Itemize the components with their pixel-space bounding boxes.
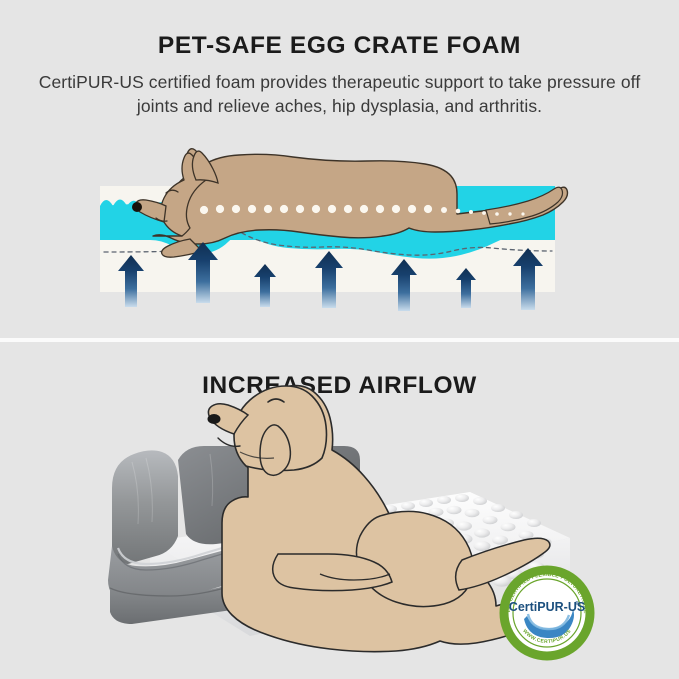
dog-nose	[208, 414, 221, 424]
badge-trademark-symbol: ®	[575, 600, 579, 607]
illustration-dog-on-foam-cross-section	[0, 0, 679, 338]
illustration-dog-on-bolster-bed: CONTAINS CERTIFIED FLEXIBLE POLYURETHANE…	[0, 342, 679, 679]
panel-pet-safe-egg-crate-foam: PET-SAFE EGG CRATE FOAM CertiPUR-US cert…	[0, 0, 679, 338]
infographic-page: PET-SAFE EGG CRATE FOAM CertiPUR-US cert…	[0, 0, 679, 679]
dog-nose	[132, 202, 142, 212]
panel-increased-airflow: INCREASED AIRFLOW	[0, 342, 679, 679]
certipur-us-logo: CONTAINS CERTIFIED FLEXIBLE POLYURETHANE…	[503, 569, 591, 657]
bottom-edge	[0, 671, 679, 679]
badge-brand-name: CertiPUR-US	[509, 600, 585, 614]
